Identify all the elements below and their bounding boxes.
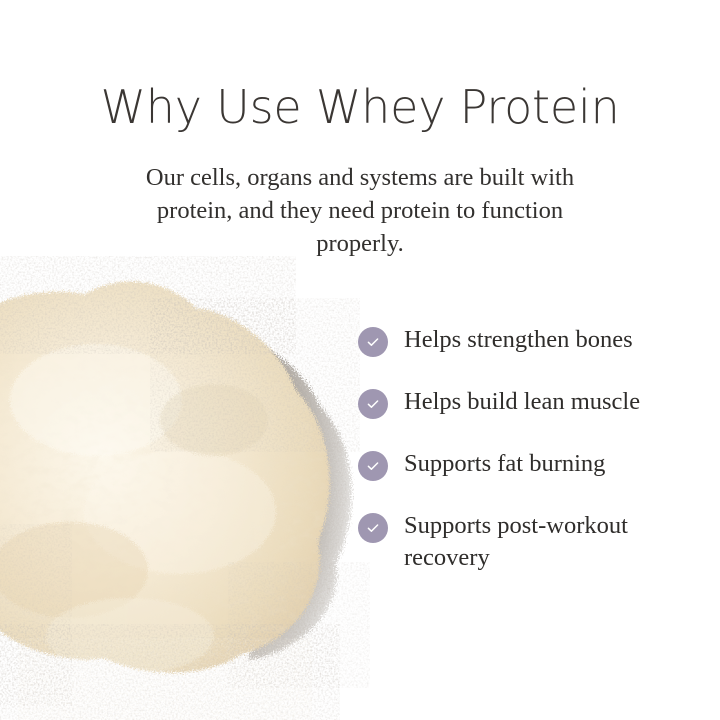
page-subtitle: Our cells, organs and systems are built … <box>0 161 720 260</box>
check-circle-icon <box>358 327 388 357</box>
benefits-list: Helps strengthen bones Helps build lean … <box>358 324 698 574</box>
benefit-label: Supports post-workout recovery <box>404 510 686 574</box>
benefit-item: Helps build lean muscle <box>358 386 698 419</box>
powder-illustration <box>0 250 370 720</box>
benefit-item: Supports post-workout recovery <box>358 510 698 574</box>
subtitle-line-3: properly. <box>96 227 624 260</box>
benefit-label: Helps strengthen bones <box>404 324 633 356</box>
benefit-label: Supports fat burning <box>404 448 605 480</box>
benefit-item: Helps strengthen bones <box>358 324 698 357</box>
whey-protein-powder-pile <box>0 250 370 720</box>
subtitle-line-2: protein, and they need protein to functi… <box>96 194 624 227</box>
check-circle-icon <box>358 389 388 419</box>
check-circle-icon <box>358 513 388 543</box>
benefit-item: Supports fat burning <box>358 448 698 481</box>
whey-protein-infographic: Why Use Whey Protein Our cells, organs a… <box>0 0 720 720</box>
benefit-label: Helps build lean muscle <box>404 386 640 418</box>
check-circle-icon <box>358 451 388 481</box>
page-title: Why Use Whey Protein <box>0 84 720 130</box>
subtitle-line-1: Our cells, organs and systems are built … <box>96 161 624 194</box>
heading-block: Why Use Whey Protein Our cells, organs a… <box>0 0 720 260</box>
